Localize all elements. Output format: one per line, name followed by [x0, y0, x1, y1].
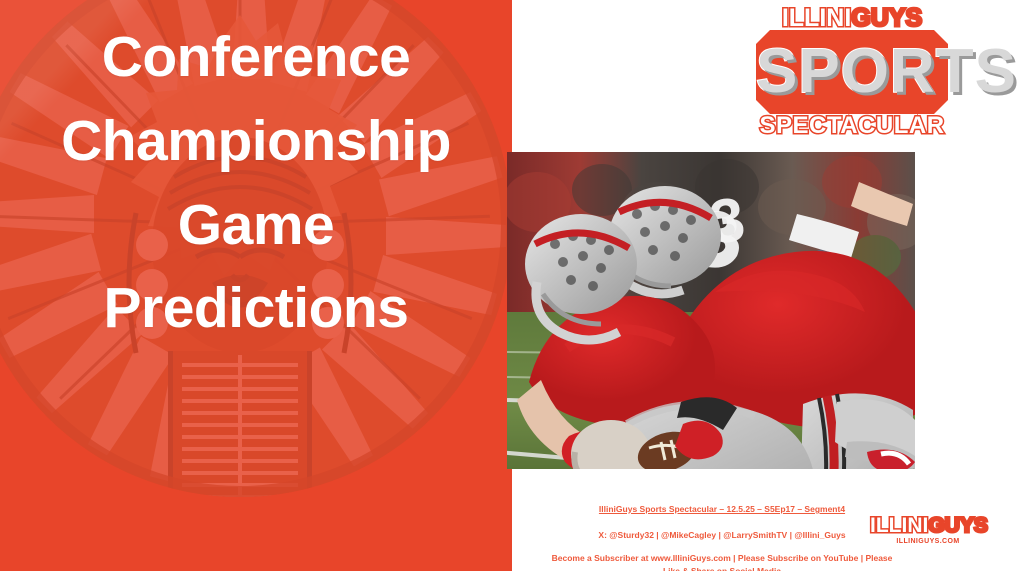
episode-title[interactable]: IlliniGuys Sports Spectacular – 12.5.25 … [512, 500, 932, 518]
footer-logo-name: ILLINIGUYS [870, 514, 986, 538]
show-logo-spectacular-text: SPECTACULAR [752, 112, 952, 140]
subscribe-line-1[interactable]: Become a Subscriber at www.IlliniGuys.co… [512, 552, 932, 565]
show-logo-guys: GUYS [851, 4, 922, 32]
title-line-4: Predictions [0, 267, 512, 351]
footer-logo-guys: GUYS [928, 514, 988, 537]
footer-brand-logo[interactable]: ILLINIGUYS ILLINIGUYS.COM [870, 514, 986, 548]
slide-canvas: Conference Championship Game Predictions… [0, 0, 1024, 571]
title-line-1: Conference [0, 16, 512, 100]
title-panel: Conference Championship Game Predictions [0, 0, 512, 571]
football-tackle-photo: 3 [507, 152, 915, 469]
show-logo-sports-text: SPORTS [756, 36, 948, 108]
subscribe-line-2[interactable]: Like & Share on Social Media [512, 565, 932, 571]
page-title: Conference Championship Game Predictions [0, 16, 512, 351]
show-logo-illini: ILLINI [782, 4, 851, 32]
footer-info: IlliniGuys Sports Spectacular – 12.5.25 … [512, 500, 932, 571]
footer-logo-url: ILLINIGUYS.COM [870, 538, 986, 545]
show-logo-illiniguys-text: ILLINIGUYS [752, 4, 952, 33]
show-logo: ILLINIGUYS SPORTS SPECTACULAR [752, 2, 952, 144]
title-line-3: Game [0, 184, 512, 268]
footer-logo-illini: ILLINI [870, 514, 928, 537]
social-handles[interactable]: X: @Sturdy32 | @MikeCagley | @LarrySmith… [512, 526, 932, 544]
title-line-2: Championship [0, 100, 512, 184]
